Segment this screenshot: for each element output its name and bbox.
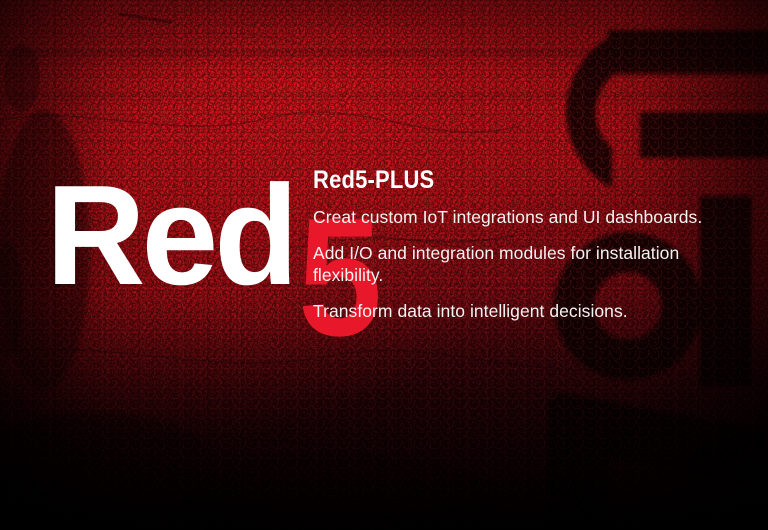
logo-text-red: Red bbox=[46, 176, 295, 296]
product-title: Red5-PLUS bbox=[313, 166, 658, 194]
copy-block: Red5-PLUS Creat custom IoT integrations … bbox=[313, 166, 705, 322]
feature-line-2: Add I/O and integration modules for inst… bbox=[313, 242, 705, 286]
banner-content: Red 5 Red5-PLUS Creat custom IoT integra… bbox=[0, 0, 768, 530]
feature-line-1: Creat custom IoT integrations and UI das… bbox=[313, 206, 705, 228]
feature-line-3: Transform data into intelligent decision… bbox=[313, 300, 705, 322]
banner: Red 5 Red5-PLUS Creat custom IoT integra… bbox=[0, 0, 768, 530]
